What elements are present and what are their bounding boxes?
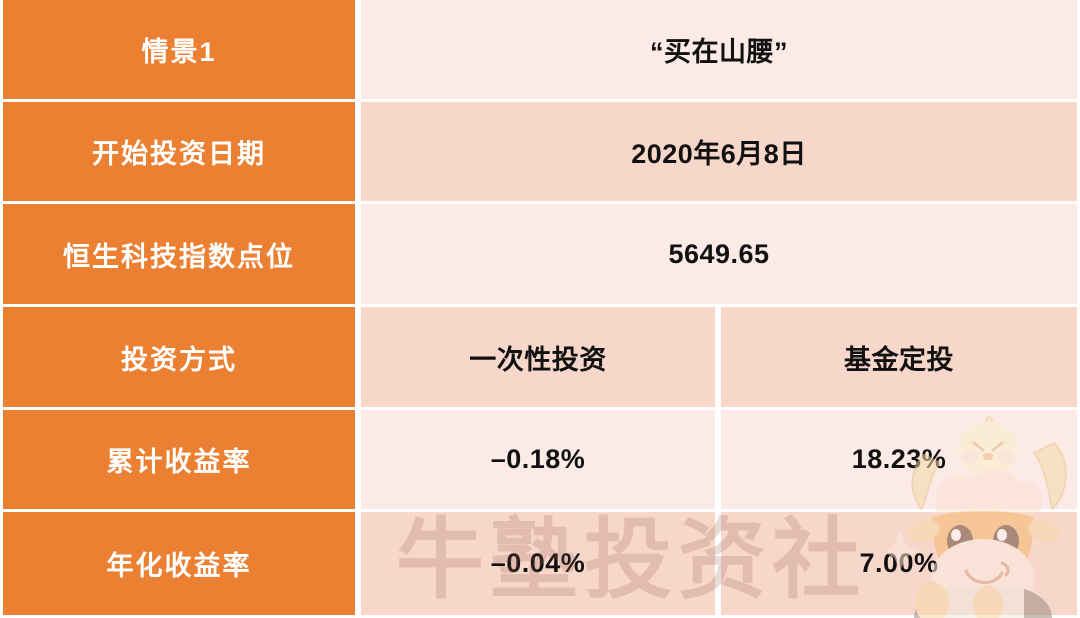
value-text: 5649.65: [668, 239, 769, 270]
value-text: –0.18%: [491, 444, 586, 475]
row-label-index-level: 恒生科技指数点位: [0, 204, 358, 307]
table-grid: 情景1 “买在山腰” 开始投资日期 2020年6月8日 恒生科技指数点位 564…: [0, 0, 1080, 618]
row-label-investment-method: 投资方式: [0, 307, 358, 410]
row-label-cumulative-return: 累计收益率: [0, 410, 358, 512]
row-value-scenario: “买在山腰”: [358, 0, 1080, 102]
annualized-return-regular: 7.00%: [718, 512, 1080, 618]
header-lump-sum: 一次性投资: [358, 307, 718, 410]
value-text: 基金定投: [844, 338, 954, 377]
row-value-start-date: 2020年6月8日: [358, 102, 1080, 204]
cumulative-return-lump-sum: –0.18%: [358, 410, 718, 512]
comparison-table: 牛塾投资社: [0, 0, 1080, 618]
row-label-scenario: 情景1: [0, 0, 358, 102]
label-text: 年化收益率: [107, 544, 252, 583]
label-text: 恒生科技指数点位: [63, 235, 295, 274]
annualized-return-lump-sum: –0.04%: [358, 512, 718, 618]
label-text: 累计收益率: [107, 440, 252, 479]
row-value-index-level: 5649.65: [358, 204, 1080, 307]
label-text: 情景1: [141, 30, 216, 69]
value-text: 一次性投资: [469, 338, 607, 377]
label-text: 开始投资日期: [92, 132, 266, 171]
label-text: 投资方式: [121, 338, 237, 377]
value-text: –0.04%: [491, 548, 586, 579]
cumulative-return-regular: 18.23%: [718, 410, 1080, 512]
header-regular-investment: 基金定投: [718, 307, 1080, 410]
value-text: “买在山腰”: [650, 30, 788, 69]
value-text: 18.23%: [852, 444, 947, 475]
row-label-start-date: 开始投资日期: [0, 102, 358, 204]
row-label-annualized-return: 年化收益率: [0, 512, 358, 618]
value-text: 2020年6月8日: [631, 132, 807, 171]
value-text: 7.00%: [859, 548, 938, 579]
